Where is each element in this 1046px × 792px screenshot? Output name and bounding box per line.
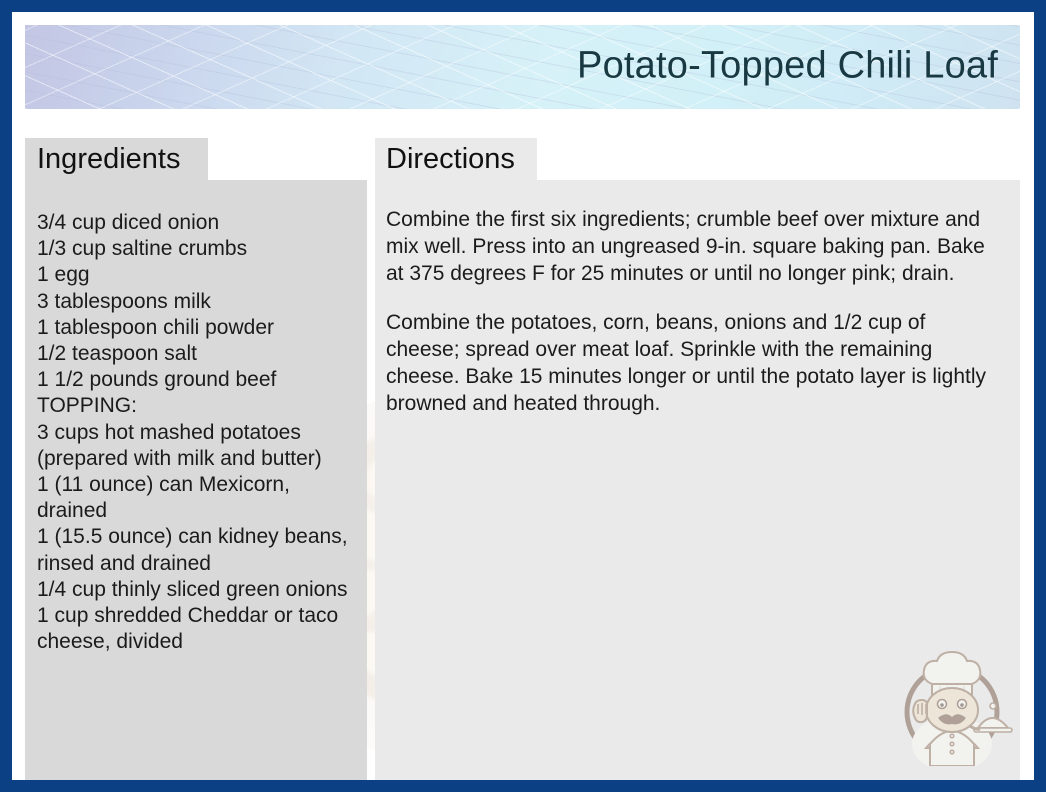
ingredients-heading-label: Ingredients [37, 145, 181, 174]
list-item: 1/2 teaspoon salt [37, 341, 359, 367]
list-item: 1/4 cup thinly sliced green onions [37, 577, 359, 603]
ingredients-heading-tab: Ingredients [25, 138, 208, 180]
list-item: 1 egg [37, 262, 359, 288]
list-item: 3 tablespoons milk [37, 289, 359, 315]
recipe-card: Potato-Topped Chili Loaf [0, 0, 1046, 792]
list-item: TOPPING: [37, 393, 359, 419]
page-title: Potato-Topped Chili Loaf [577, 45, 998, 88]
list-item: cheese, divided [37, 629, 359, 655]
directions-heading-label: Directions [386, 145, 515, 174]
header-banner: Potato-Topped Chili Loaf [25, 25, 1020, 109]
list-item: 3 cups hot mashed potatoes [37, 420, 359, 446]
list-item: 1 (15.5 ounce) can kidney beans, [37, 524, 359, 550]
list-item: 1/3 cup saltine crumbs [37, 236, 359, 262]
list-item: rinsed and drained [37, 551, 359, 577]
ingredients-list: 3/4 cup diced onion 1/3 cup saltine crum… [25, 180, 367, 780]
list-item: 1 cup shredded Cheddar or taco [37, 603, 359, 629]
list-item: drained [37, 498, 359, 524]
list-item: 1 tablespoon chili powder [37, 315, 359, 341]
direction-paragraph: Combine the potatoes, corn, beans, onion… [386, 309, 1002, 417]
list-item: (prepared with milk and butter) [37, 446, 359, 472]
list-item: 1 1/2 pounds ground beef [37, 367, 359, 393]
directions-heading-tab: Directions [375, 138, 537, 180]
direction-paragraph: Combine the first six ingredients; crumb… [386, 206, 1002, 287]
list-item: 3/4 cup diced onion [37, 210, 359, 236]
directions-text: Combine the first six ingredients; crumb… [375, 180, 1020, 780]
list-item: 1 (11 ounce) can Mexicorn, [37, 472, 359, 498]
